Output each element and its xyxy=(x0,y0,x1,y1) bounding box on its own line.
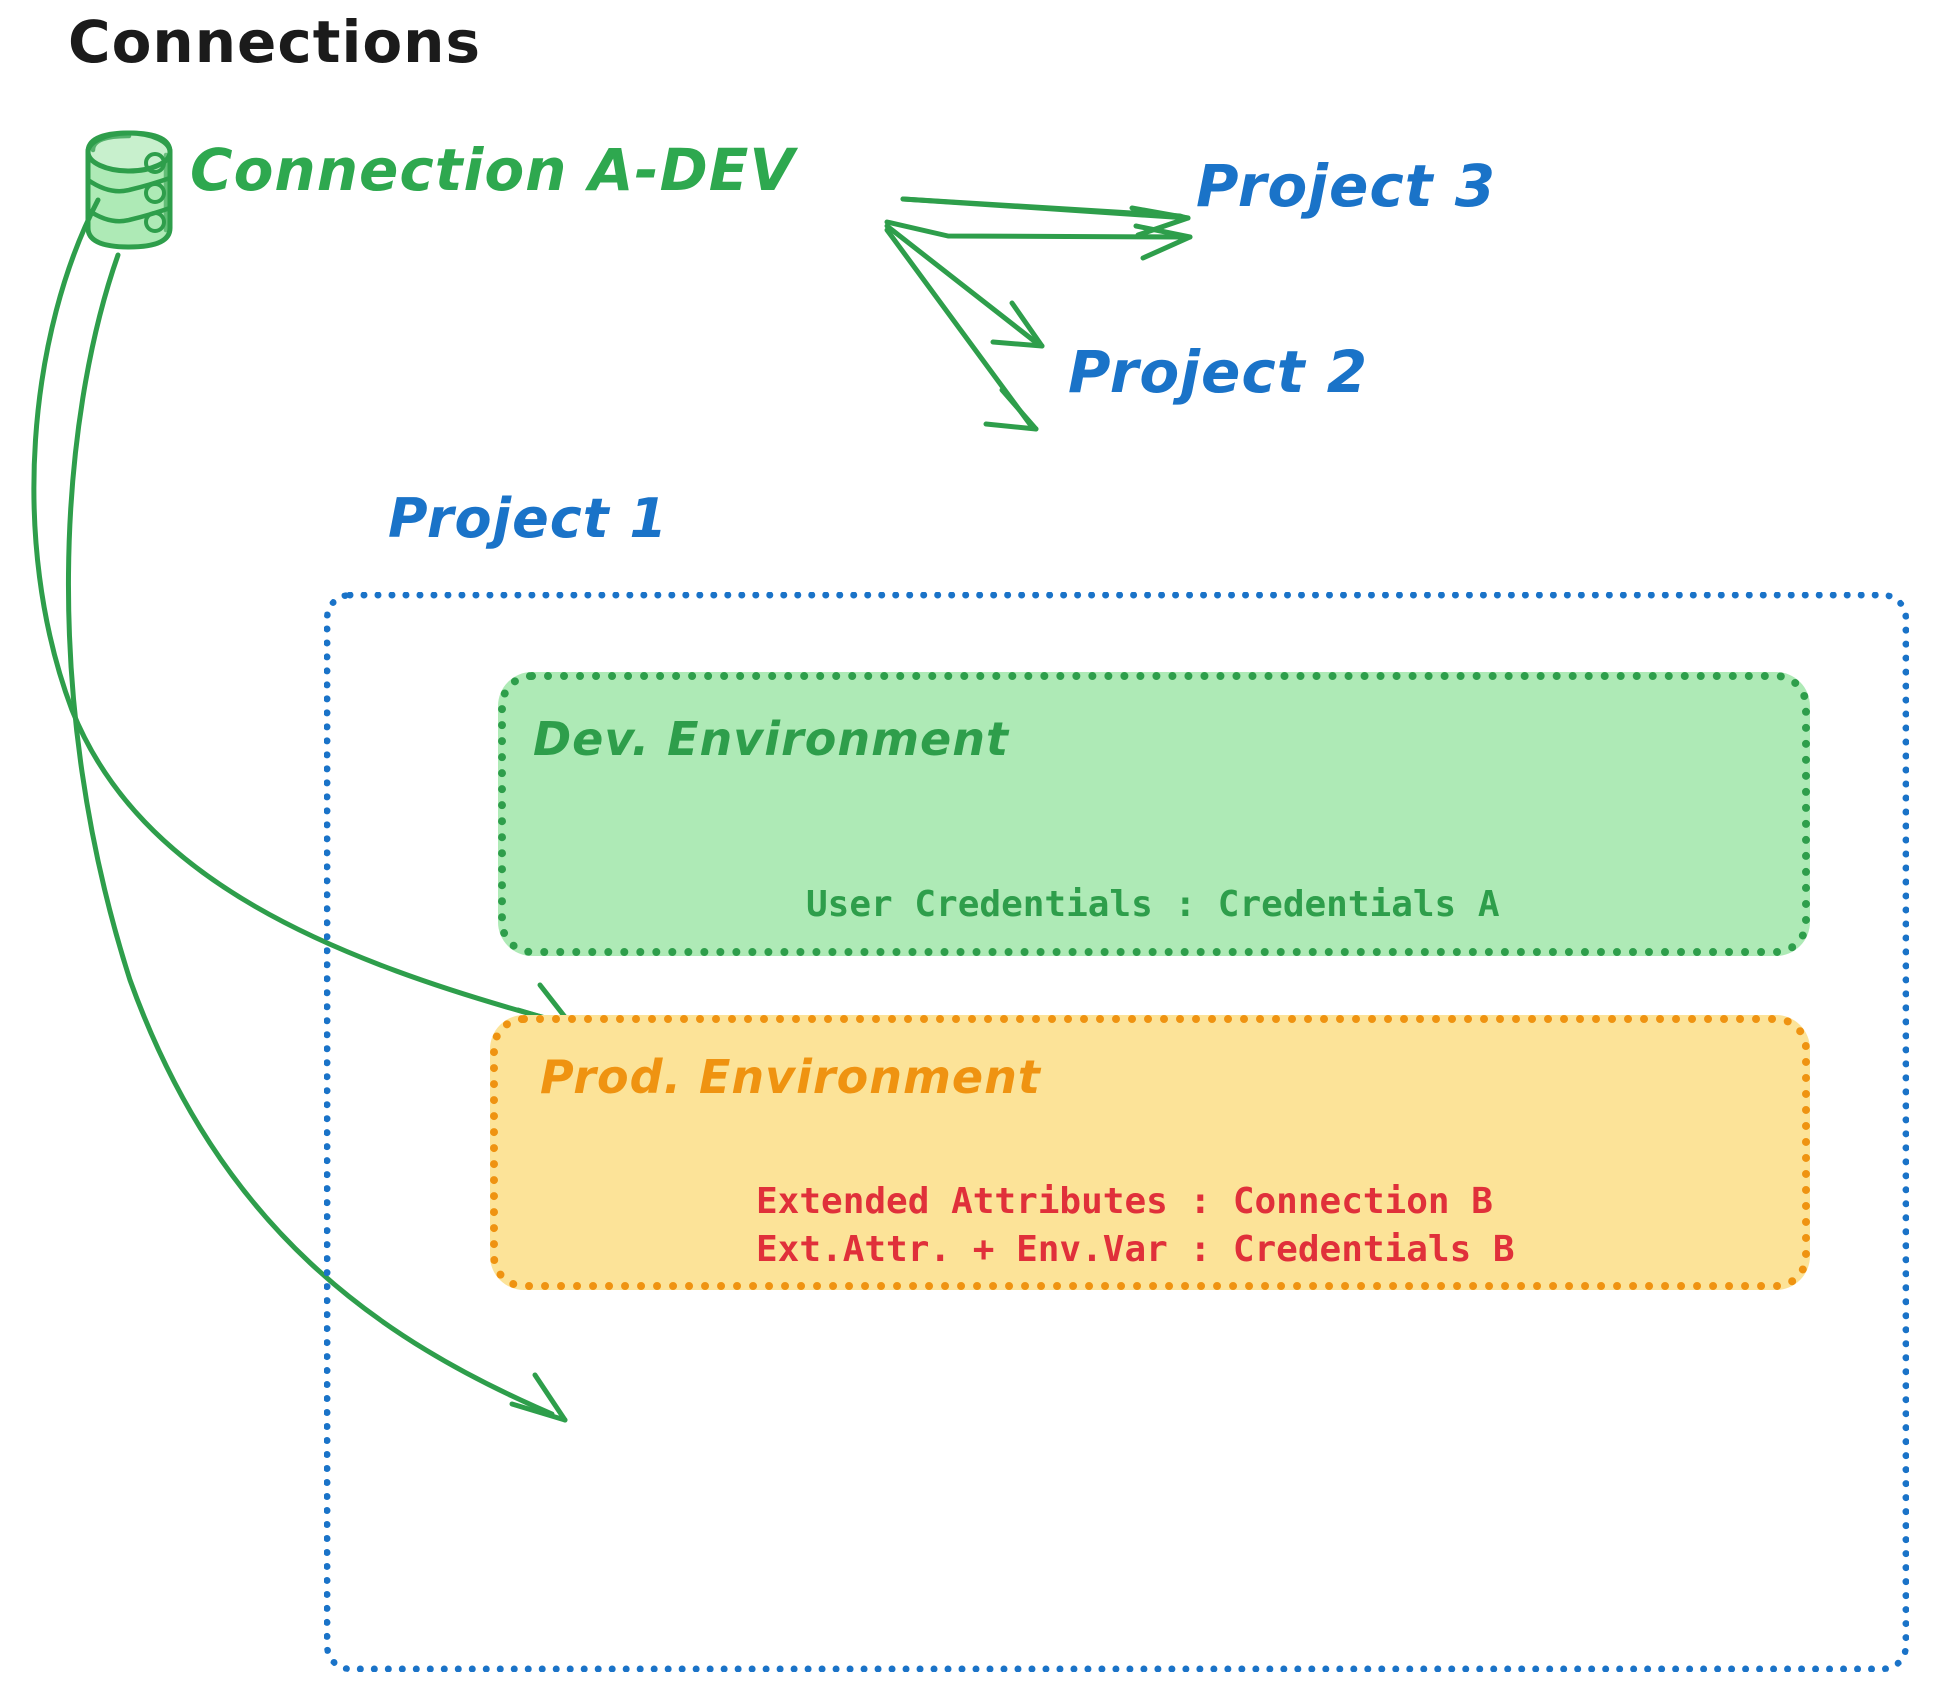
dev-environment-title: Dev. Environment xyxy=(533,712,1009,766)
project-1-label[interactable]: Project 1 xyxy=(388,487,668,550)
diagram-canvas: .stroke-g{fill:none;stroke:#2e9e4b;strok… xyxy=(0,0,1938,1691)
arrow-to-project-3-b xyxy=(887,222,1190,258)
dev-user-credentials-line: User Credentials : Credentials A xyxy=(806,884,1500,925)
project-2-label[interactable]: Project 2 xyxy=(1068,338,1368,406)
prod-ext-attr-env-var-line: Ext.Attr. + Env.Var : Credentials B xyxy=(756,1229,1515,1270)
arrow-to-project-2-b xyxy=(887,230,1036,429)
project-3-label[interactable]: Project 3 xyxy=(1196,152,1496,220)
prod-environment-title: Prod. Environment xyxy=(540,1050,1041,1104)
database-cylinder-icon xyxy=(88,133,170,247)
prod-extended-attributes-line: Extended Attributes : Connection B xyxy=(756,1181,1493,1222)
connection-a-dev-label[interactable]: Connection A-DEV xyxy=(190,136,795,204)
page-title: Connections xyxy=(68,8,481,76)
arrow-to-project-2-a xyxy=(887,226,1042,346)
